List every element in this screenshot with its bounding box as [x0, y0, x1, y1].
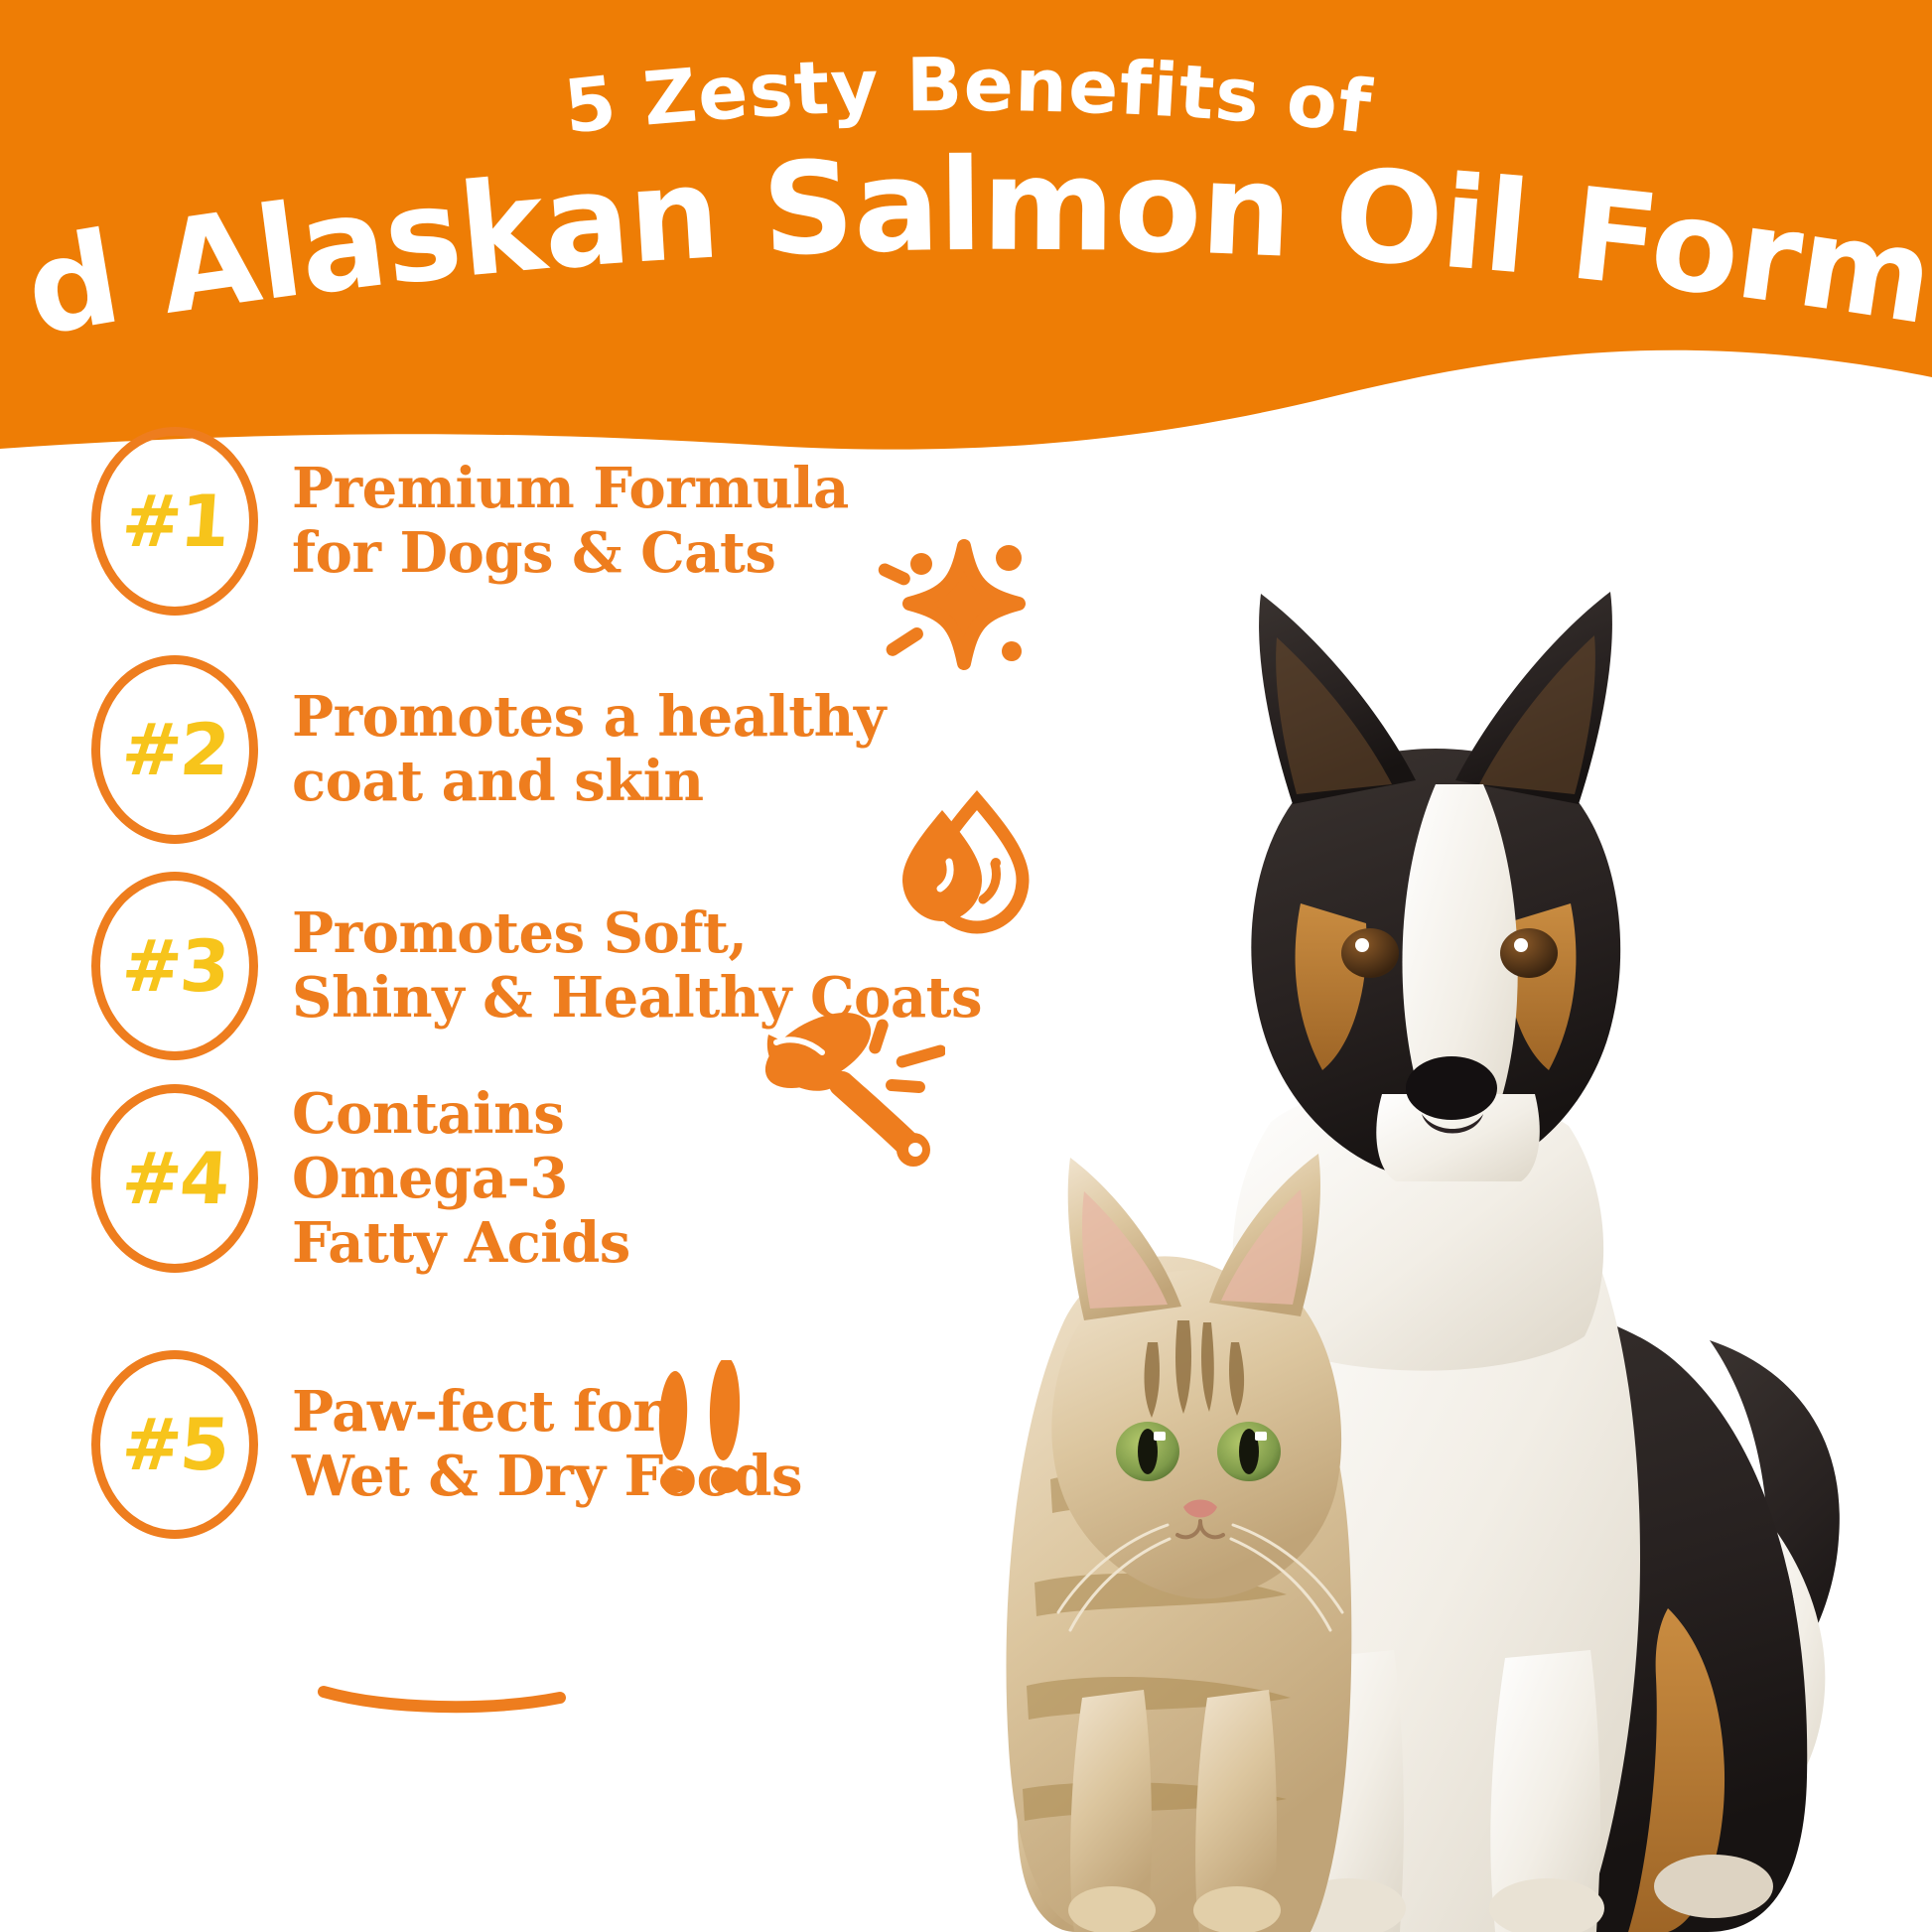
badge-3: #3 — [91, 872, 258, 1060]
oil-droplet-icon — [892, 782, 1054, 945]
benefit-item-2[interactable]: #2 Promotes a healthy coat and skin — [0, 655, 886, 844]
header-wave-shape — [0, 0, 1932, 450]
benefit-line: Omega-3 — [292, 1147, 630, 1211]
benefit-line: Promotes a healthy — [292, 685, 886, 750]
benefit-line: Premium Formula — [292, 457, 849, 521]
benefit-text-1: Premium Formula for Dogs & Cats — [292, 457, 849, 586]
cat-illustration — [1006, 1154, 1351, 1932]
benefit-line: for Dogs & Cats — [292, 521, 849, 586]
header-banner — [0, 0, 1932, 467]
sparkle-star-icon — [870, 524, 1058, 693]
benefit-line: Contains — [292, 1082, 630, 1147]
benefit-item-1[interactable]: #1 Premium Formula for Dogs & Cats — [0, 427, 849, 616]
double-exclamation-icon — [645, 1360, 774, 1494]
badge-2: #2 — [91, 655, 258, 844]
badge-number-1: #1 — [119, 485, 229, 557]
salmon-oil-benefits-infographic: 5 Zesty Benefits of Wild Alaskan Salmon … — [0, 0, 1932, 1932]
grooming-brush-icon — [747, 999, 945, 1177]
underline-swoosh-icon — [318, 1680, 566, 1716]
benefit-text-2: Promotes a healthy coat and skin — [292, 685, 886, 814]
benefit-line: Promotes Soft, — [292, 901, 982, 966]
pet-photo-group — [973, 486, 1932, 1932]
badge-number-4: #4 — [119, 1143, 229, 1214]
benefit-text-4: Contains Omega-3 Fatty Acids — [292, 1082, 630, 1276]
badge-number-5: #5 — [119, 1409, 229, 1480]
badge-4: #4 — [91, 1084, 258, 1273]
badge-1: #1 — [91, 427, 258, 616]
benefit-line: coat and skin — [292, 750, 886, 814]
badge-number-3: #3 — [119, 930, 229, 1002]
badge-5: #5 — [91, 1350, 258, 1539]
benefit-item-4[interactable]: #4 Contains Omega-3 Fatty Acids — [0, 1082, 630, 1276]
badge-number-2: #2 — [119, 714, 229, 785]
benefit-line: Fatty Acids — [292, 1211, 630, 1276]
